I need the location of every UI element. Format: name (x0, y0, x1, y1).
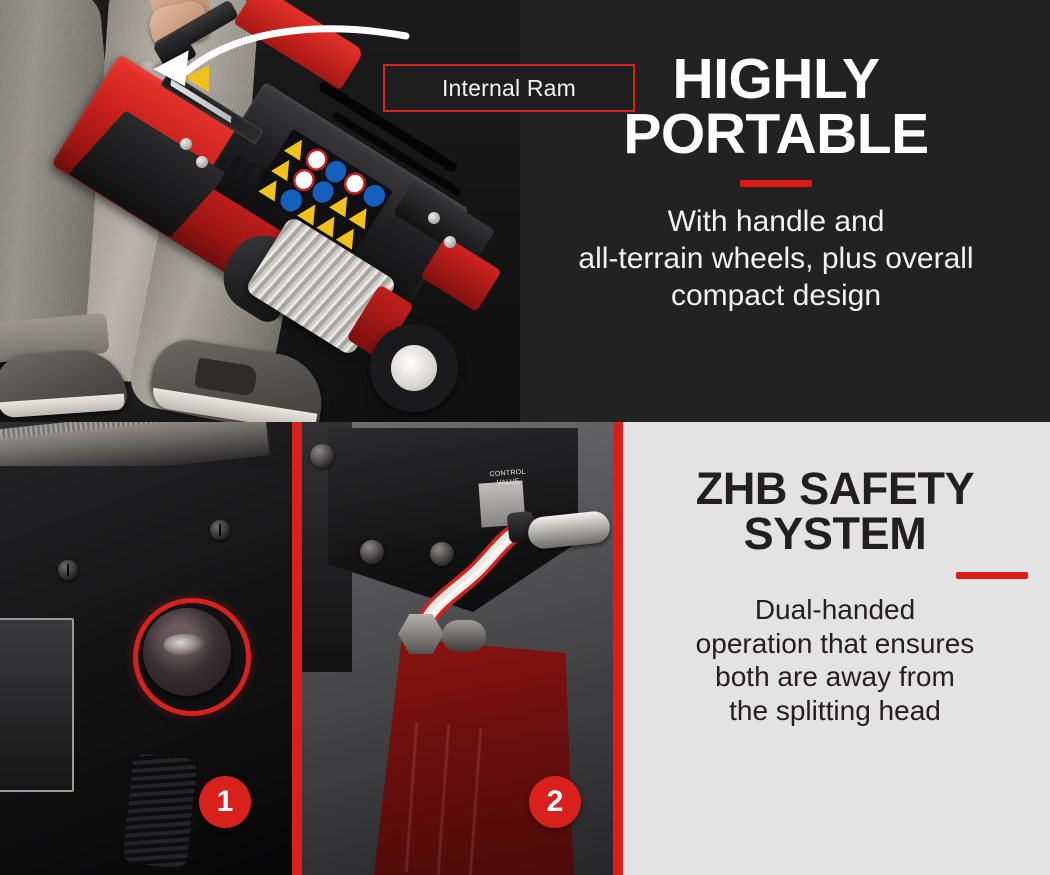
red-rule-divider (956, 572, 1028, 579)
safety-heading-line-2: SYSTEM (642, 511, 1028, 556)
panel-divider-right (613, 422, 623, 875)
all-terrain-wheel (370, 324, 458, 412)
product-feature-poster: Internal Ram HIGHLY PORTABLE With handle… (0, 0, 1050, 875)
safety-heading-line-1: ZHB SAFETY (642, 466, 1028, 511)
safety-text-block: ZHB SAFETY SYSTEM Dual-handed operation … (642, 466, 1028, 727)
red-highlight-ring (133, 598, 251, 716)
safety-text-cell: ZHB SAFETY SYSTEM Dual-handed operation … (623, 422, 1050, 875)
portable-body-line-2: all-terrain wheels, plus overall (520, 241, 1032, 278)
rating-plate (0, 618, 74, 792)
safety-body-line-1: Dual-handed (642, 593, 1028, 627)
bolt (196, 156, 208, 168)
bolt (444, 236, 456, 248)
step-badge-2: 2 (529, 776, 581, 828)
panel-divider-left (292, 422, 302, 875)
bolt (428, 212, 440, 224)
red-rule-divider (740, 180, 812, 187)
top-feature-panel: Internal Ram HIGHLY PORTABLE With handle… (0, 0, 1050, 422)
step-badge-1: 1 (199, 776, 251, 828)
portable-body-line-3: compact design (520, 278, 1032, 315)
portable-heading-line-2: PORTABLE (520, 107, 1032, 162)
pivot-pin (442, 620, 486, 652)
bolt (310, 444, 334, 468)
housing-screw (58, 560, 78, 580)
safety-body-line-3: both are away from (642, 660, 1028, 694)
portable-text-block: HIGHLY PORTABLE With handle and all-terr… (520, 52, 1032, 314)
housing-screw (210, 520, 230, 540)
portable-body-line-1: With handle and (520, 204, 1032, 241)
safety-body-line-4: the splitting head (642, 694, 1028, 728)
portable-heading-line-1: HIGHLY (520, 52, 1032, 107)
bolt (180, 138, 192, 150)
red-wedge-plate (233, 0, 364, 90)
power-cable (122, 753, 197, 869)
bolt (360, 540, 384, 564)
bottom-feature-panel: CONTROL VALVE ZHB SAFETY SYSTEM (0, 422, 1050, 875)
safety-body-line-2: operation that ensures (642, 627, 1028, 661)
